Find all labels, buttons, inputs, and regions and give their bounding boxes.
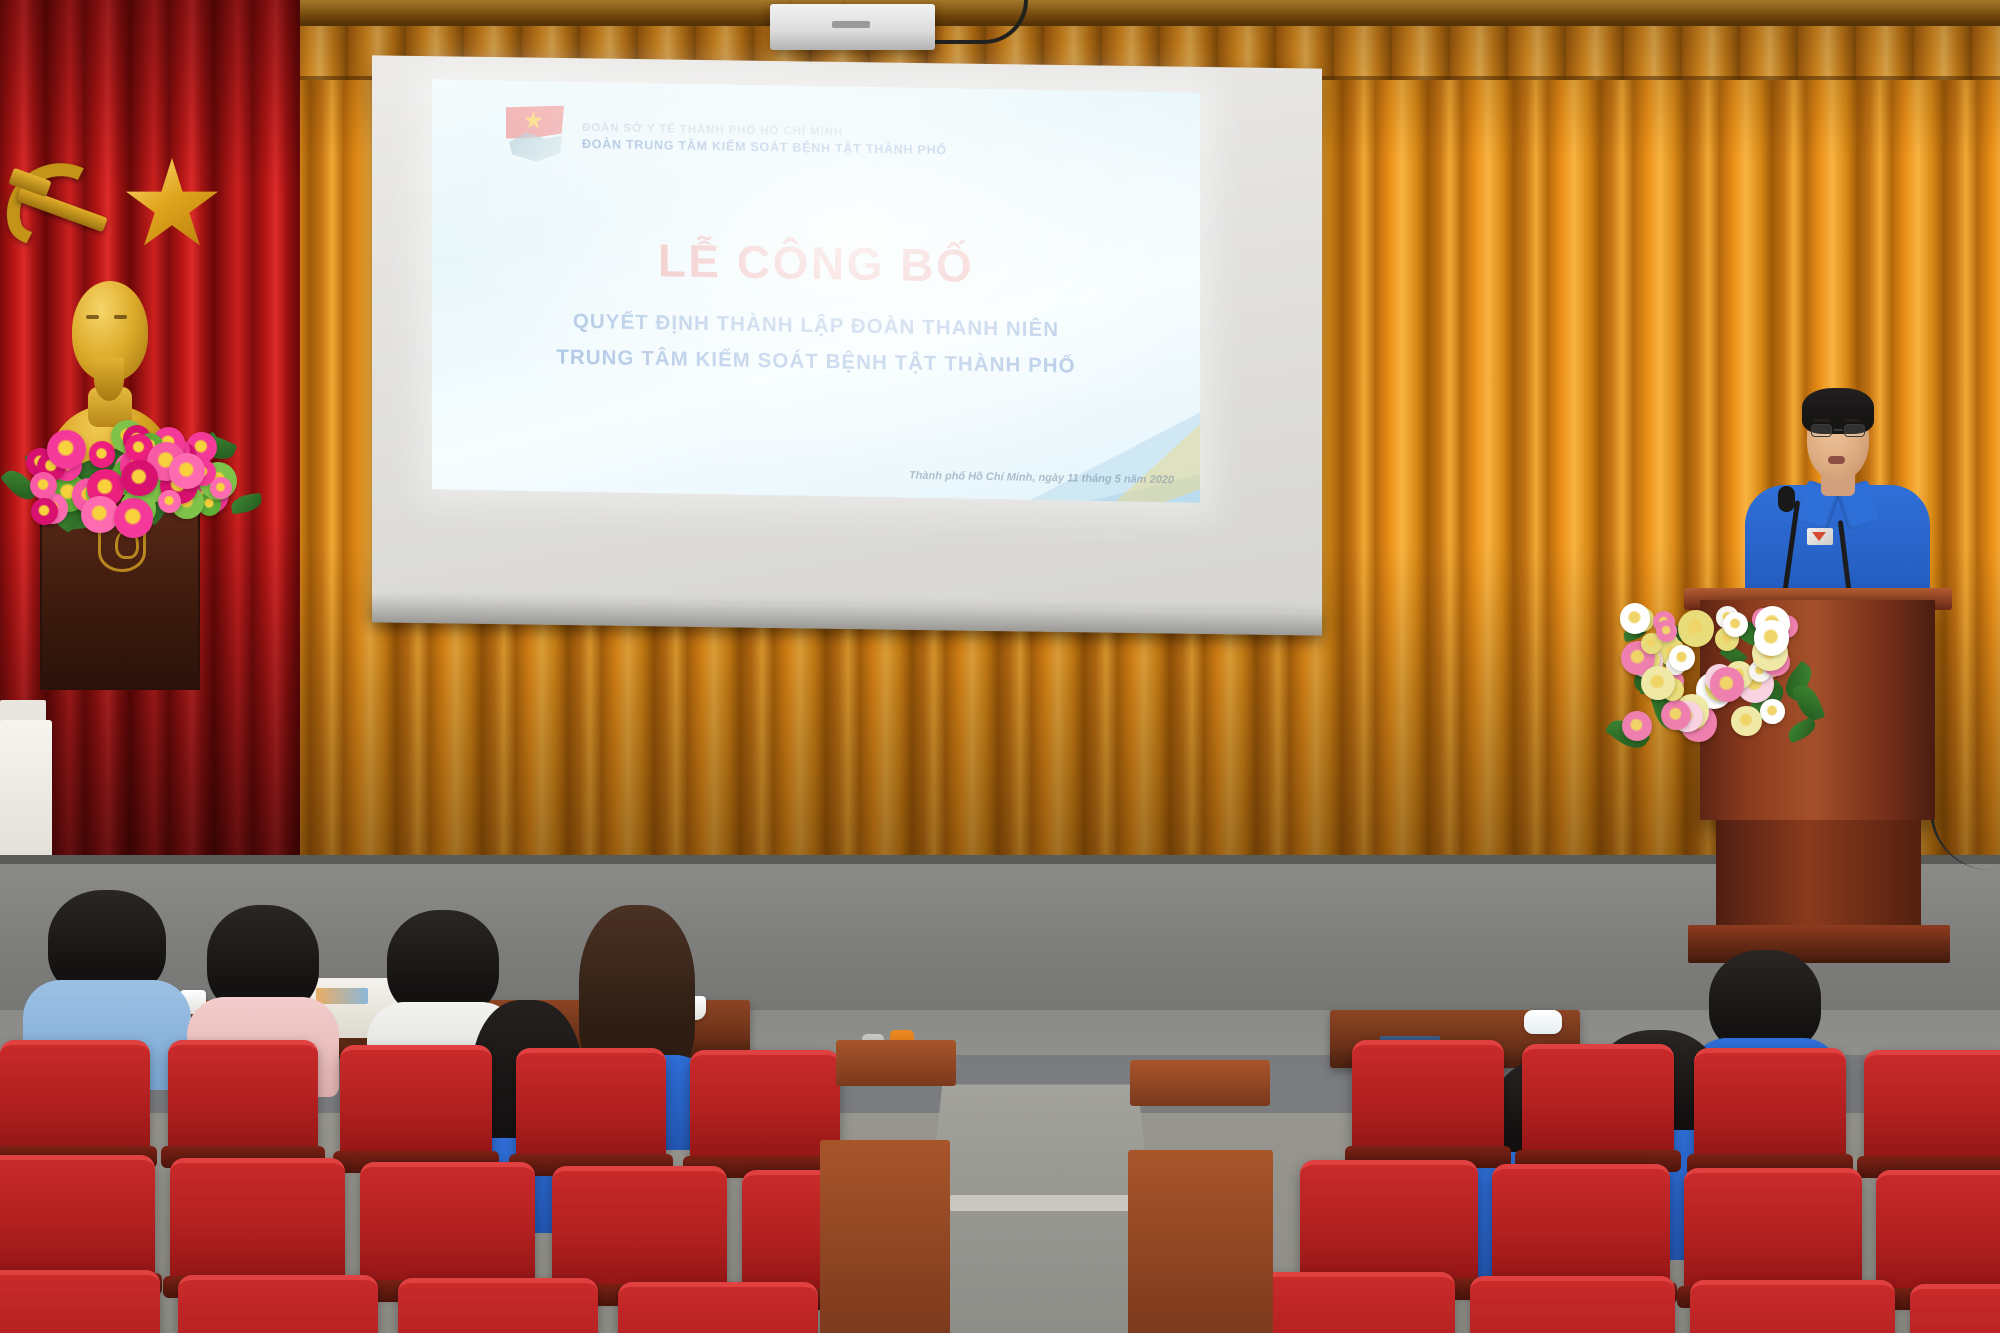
- microphone-icon: [1778, 486, 1795, 512]
- auditorium-seat: [1492, 1164, 1670, 1294]
- face-mask: [1524, 1010, 1562, 1034]
- flower-bloom: [158, 490, 181, 513]
- flower-bloom: [1669, 645, 1695, 671]
- auditorium-seat: [1876, 1170, 2000, 1300]
- youth-union-badge-icon: [1807, 528, 1833, 545]
- auditorium-seat: [170, 1158, 345, 1288]
- auditorium-seat: [552, 1166, 727, 1296]
- auditorium-seat: [1522, 1044, 1674, 1162]
- auditorium-seat: [516, 1048, 666, 1166]
- flower-bloom: [1754, 620, 1790, 656]
- auditorium-seat: [1694, 1048, 1846, 1166]
- auditorium-seat: [0, 1155, 155, 1285]
- aisle-step: [950, 1195, 1140, 1211]
- hall-scene: ĐOÀN SỞ Y TẾ THÀNH PHỐ HỒ CHÍ MINH ĐOÀN …: [0, 0, 2000, 1333]
- aisle-desk-top: [836, 1040, 956, 1086]
- auditorium-seat: [360, 1162, 535, 1292]
- stage-edge: [0, 855, 2000, 864]
- auditorium-seat: [340, 1045, 492, 1163]
- aisle-desk-top-right: [1130, 1060, 1270, 1106]
- flower-bloom: [121, 460, 157, 496]
- lotus-carving-icon: [98, 532, 146, 572]
- flower-bloom: [1678, 610, 1715, 647]
- auditorium-seat: [1690, 1280, 1895, 1333]
- ceiling-projector: [770, 4, 935, 50]
- lotus-flower-arrangement: [10, 392, 240, 507]
- flower-bloom: [1620, 603, 1650, 633]
- flower-bloom: [114, 498, 154, 538]
- auditorium-seat: [618, 1282, 818, 1333]
- eyeglasses-icon: [1809, 424, 1867, 437]
- auditorium-seat: [690, 1050, 840, 1168]
- auditorium-seat: [1470, 1276, 1675, 1333]
- auditorium-seat: [1352, 1040, 1504, 1158]
- slide-header: ĐOÀN SỞ Y TẾ THÀNH PHỐ HỒ CHÍ MINH ĐOÀN …: [502, 103, 1174, 179]
- auditorium-seat: [0, 1270, 160, 1333]
- aisle-desk-side: [820, 1140, 950, 1333]
- auditorium-seat: [1864, 1050, 2000, 1168]
- auditorium-seat: [398, 1278, 598, 1333]
- auditorium-seat: [1250, 1272, 1455, 1333]
- flower-bloom: [1710, 667, 1745, 702]
- auditorium-seat: [1910, 1284, 2000, 1333]
- auditorium-seat: [168, 1040, 318, 1158]
- auditorium-seat: [178, 1275, 378, 1333]
- auditorium-seat: [0, 1040, 150, 1158]
- presentation-slide: ĐOÀN SỞ Y TẾ THÀNH PHỐ HỒ CHÍ MINH ĐOÀN …: [432, 79, 1200, 502]
- youth-union-emblem-icon: [502, 103, 568, 168]
- flower-bloom: [47, 430, 86, 469]
- flower-bloom: [1723, 612, 1748, 637]
- flower-bloom: [1661, 700, 1691, 730]
- floor-power-cable: [1930, 640, 2000, 870]
- hammer-and-sickle-icon: [4, 150, 124, 260]
- flower-bloom: [89, 441, 116, 468]
- aisle-desk-side-right: [1128, 1150, 1273, 1333]
- podium-column: [1716, 820, 1921, 930]
- flower-bloom: [1731, 706, 1761, 736]
- projector-vent-icon: [832, 21, 870, 28]
- podium-flower-arrangement: [1618, 568, 1803, 728]
- slide-header-line-2: ĐOÀN TRUNG TÂM KIỂM SOÁT BỆNH TẬT THÀNH …: [582, 136, 947, 156]
- flower-bloom: [210, 477, 232, 499]
- flower-bloom: [81, 496, 119, 534]
- flower-bloom: [1656, 620, 1677, 641]
- slide-title: LỄ CÔNG BỐ: [432, 229, 1200, 296]
- auditorium-seat: [1684, 1168, 1862, 1298]
- slide-subtitle: QUYẾT ĐỊNH THÀNH LẬP ĐOÀN THANH NIÊN TRU…: [432, 301, 1200, 386]
- flower-bloom: [169, 453, 205, 489]
- flower-bloom: [1760, 699, 1785, 724]
- flower-bloom: [1622, 711, 1652, 741]
- audience-person: [22, 890, 192, 1065]
- auditorium-seat: [1300, 1160, 1478, 1290]
